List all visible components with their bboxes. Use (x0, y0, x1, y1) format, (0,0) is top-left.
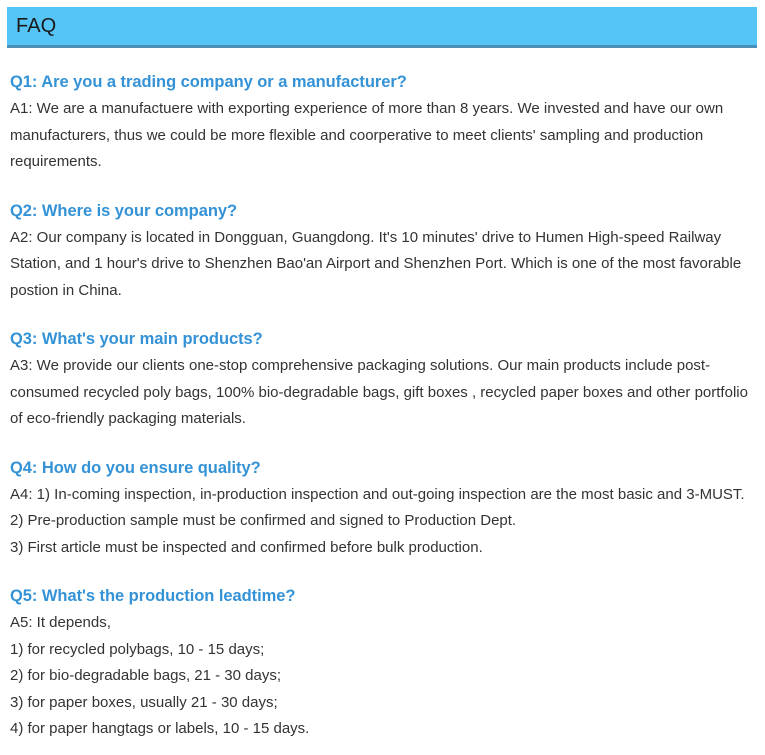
faq-answer-q4-line-1: A4: 1) In-coming inspection, in-producti… (10, 482, 752, 509)
faq-answer-q1-line-1: A1: We are a manufactuere with exporting… (10, 96, 752, 176)
faq-answer-q3-line-1: A3: We provide our clients one-stop comp… (10, 353, 752, 433)
faq-answer-q2-line-1: A2: Our company is located in Dongguan, … (10, 225, 752, 305)
page-title: FAQ (7, 16, 56, 36)
faq-question-q2: Q2: Where is your company? (10, 198, 755, 224)
faq-answer-q5-line-5: 4) for paper hangtags or labels, 10 - 15… (10, 716, 752, 743)
faq-answer-q5-line-2: 1) for recycled polybags, 10 - 15 days; (10, 637, 752, 664)
faq-question-q1: Q1: Are you a trading company or a manuf… (10, 69, 755, 95)
faq-answer-q5-line-3: 2) for bio-degradable bags, 21 - 30 days… (10, 663, 752, 690)
faq-section-q5: Q5: What's the production leadtime? A5: … (10, 583, 755, 743)
faq-question-q4: Q4: How do you ensure quality? (10, 455, 755, 481)
faq-header-bar: FAQ (7, 7, 757, 48)
faq-section-q3: Q3: What's your main products? A3: We pr… (10, 326, 755, 433)
faq-answer-q4-line-3: 3) First article must be inspected and c… (10, 535, 752, 562)
faq-section-q4: Q4: How do you ensure quality? A4: 1) In… (10, 455, 755, 562)
faq-answer-q5-line-4: 3) for paper boxes, usually 21 - 30 days… (10, 690, 752, 717)
faq-section-q2: Q2: Where is your company? A2: Our compa… (10, 198, 755, 305)
faq-section-q1: Q1: Are you a trading company or a manuf… (10, 69, 755, 176)
faq-question-q5: Q5: What's the production leadtime? (10, 583, 755, 609)
faq-question-q3: Q3: What's your main products? (10, 326, 755, 352)
faq-content: Q1: Are you a trading company or a manuf… (0, 69, 765, 743)
faq-page: FAQ Q1: Are you a trading company or a m… (0, 7, 765, 755)
faq-answer-q4-line-2: 2) Pre-production sample must be confirm… (10, 508, 752, 535)
faq-answer-q5-line-1: A5: It depends, (10, 610, 752, 637)
